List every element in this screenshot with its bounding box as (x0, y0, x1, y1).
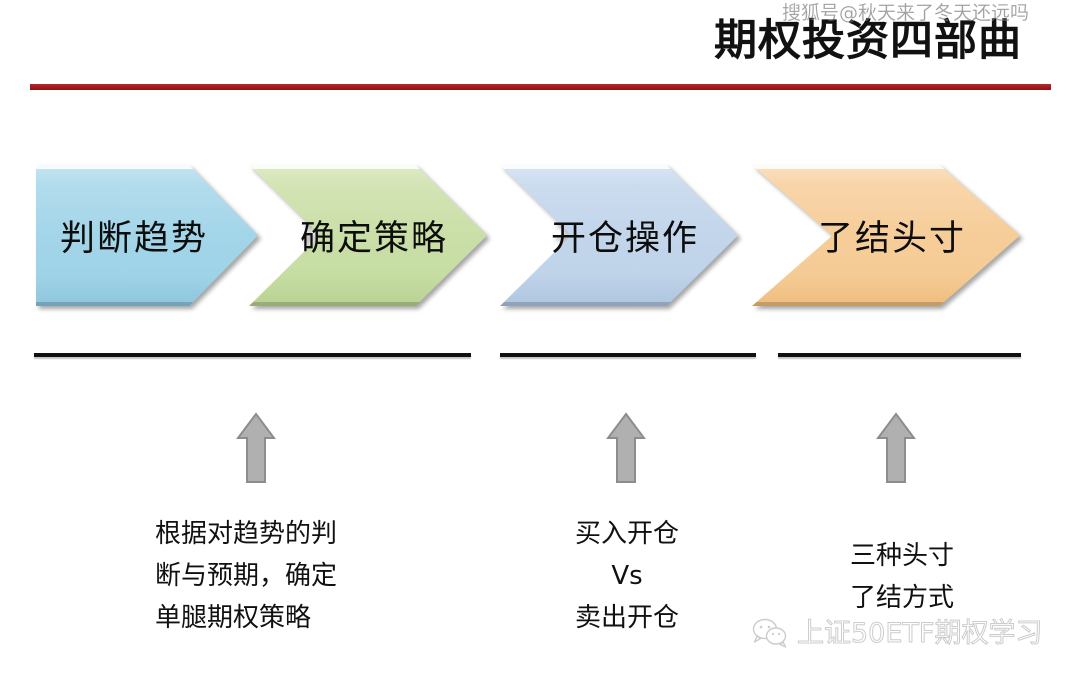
process-step-2[interactable]: 确定策略 (249, 165, 487, 306)
process-step-4-label: 了结头寸 (818, 210, 966, 261)
up-arrow-icon (876, 412, 916, 484)
process-step-1[interactable]: 判断趋势 (36, 165, 258, 306)
caption-block-2: 买入开仓 Vs 卖出开仓 (566, 513, 688, 639)
divider-rule-3 (778, 353, 1021, 357)
process-step-3[interactable]: 开仓操作 (500, 165, 738, 306)
caption-line: 了结方式 (841, 577, 963, 619)
up-arrow-icon (236, 412, 276, 484)
caption-block-1: 根据对趋势的判 断与预期，确定 单腿期权策略 (155, 513, 337, 639)
watermark-bottom: 上证50ETF期权学习 (752, 618, 1042, 648)
caption-block-3: 三种头寸 了结方式 (841, 535, 963, 619)
caption-line: 卖出开仓 (566, 597, 688, 639)
caption-line: 根据对趋势的判 (155, 513, 337, 555)
up-arrow-icon (606, 412, 646, 484)
process-step-1-label: 判断趋势 (60, 210, 208, 261)
caption-line: Vs (566, 555, 688, 597)
caption-line: 买入开仓 (566, 513, 688, 555)
page-title: 期权投资四部曲 (714, 20, 1022, 63)
caption-line: 断与预期，确定 (155, 555, 337, 597)
process-step-2-label: 确定策略 (300, 210, 448, 261)
caption-line: 三种头寸 (841, 535, 963, 577)
wechat-icon (752, 618, 788, 648)
caption-line: 单腿期权策略 (155, 597, 337, 639)
process-chevron-band: 判断趋势 确定策略 开仓操作 了结头寸 (0, 165, 1080, 310)
watermark-top: 搜狐号@秋天来了冬天还远吗 (782, 4, 1029, 23)
watermark-bottom-label: 上证50ETF期权学习 (797, 620, 1042, 647)
process-step-3-label: 开仓操作 (551, 210, 699, 261)
divider-rule-1 (34, 353, 471, 357)
slide-canvas: 期权投资四部曲 搜狐号@秋天来了冬天还远吗 判断趋势 确定策略 开仓操作 了结头… (0, 0, 1080, 686)
title-underline-rule (30, 84, 1051, 90)
divider-rule-2 (500, 353, 756, 357)
process-step-4[interactable]: 了结头寸 (752, 165, 1020, 306)
